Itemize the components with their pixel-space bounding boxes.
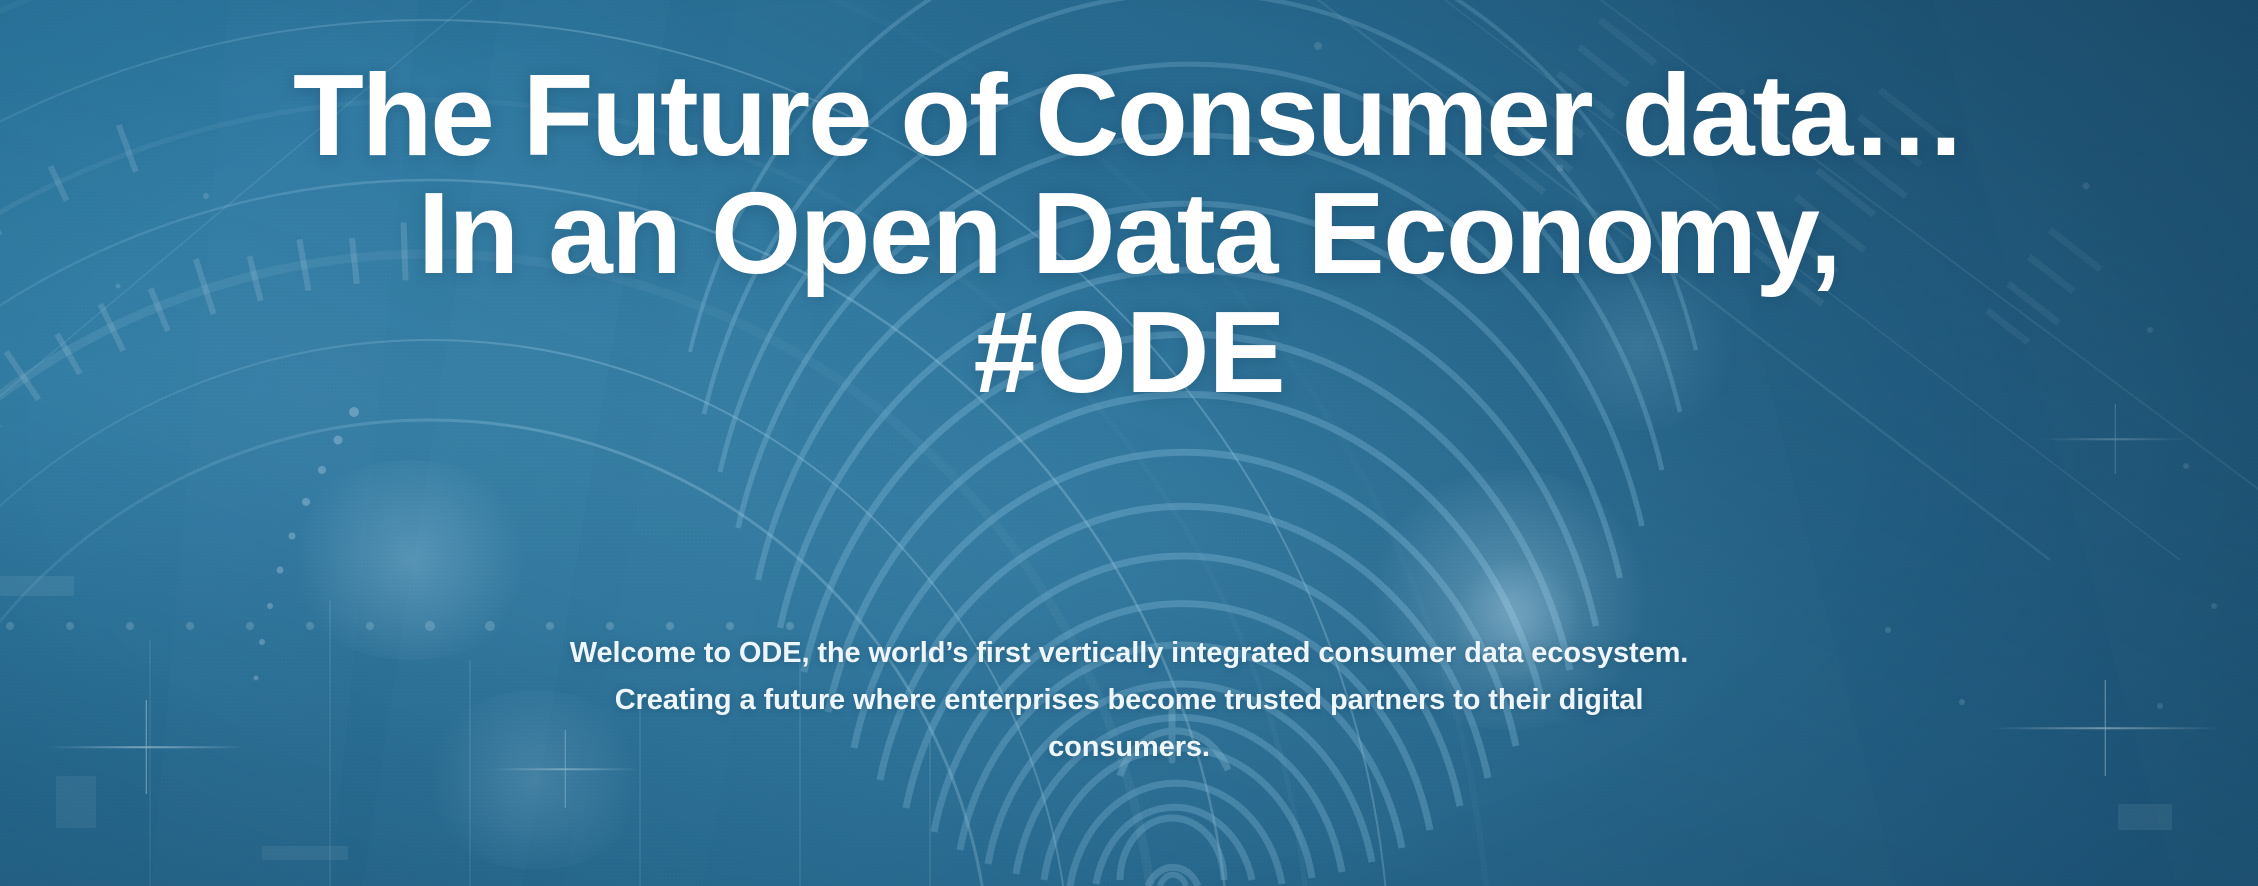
hero-headline-line-2: In an Open Data Economy, xyxy=(0,174,2258,292)
hero-headline-line-1: The Future of Consumer data… xyxy=(0,56,2258,174)
hero-headline: The Future of Consumer data… In an Open … xyxy=(0,56,2258,411)
hero-subheadline: Welcome to ODE, the world’s first vertic… xyxy=(539,630,1719,771)
hero-content: The Future of Consumer data… In an Open … xyxy=(0,0,2258,886)
hero-banner: The Future of Consumer data… In an Open … xyxy=(0,0,2258,886)
hero-headline-line-3: #ODE xyxy=(0,293,2258,411)
